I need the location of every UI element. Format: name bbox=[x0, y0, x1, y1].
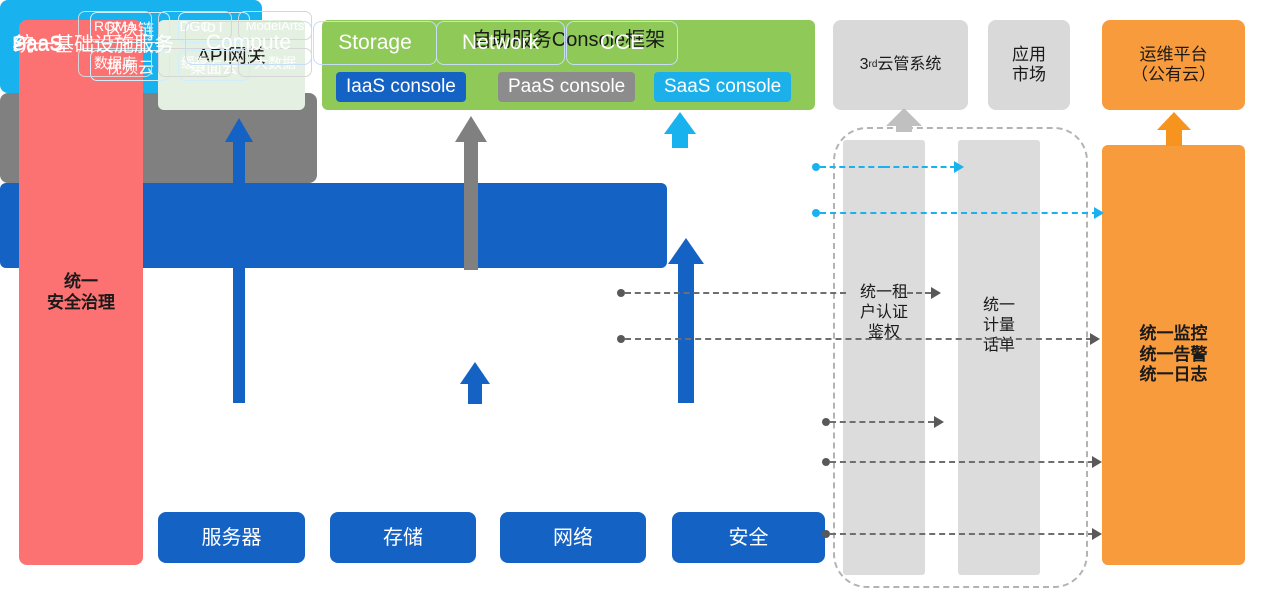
third-party-suffix: 云管系统 bbox=[877, 55, 941, 74]
third-party-cloud-mgmt-box: 3rd云管系统 bbox=[833, 20, 968, 110]
shared-service-column-auth bbox=[843, 140, 925, 575]
connector-arrow-saas-ops bbox=[1094, 207, 1104, 219]
third-party-superscript: rd bbox=[868, 59, 877, 71]
connector-line-infra-ops bbox=[830, 461, 1094, 463]
connector-arrow-paas-auth bbox=[931, 287, 941, 299]
connector-dot-saas-auth bbox=[812, 163, 820, 171]
ops-platform-box: 运维平台 （公有云） bbox=[1102, 20, 1245, 110]
arrow-infra-to-api-shaft bbox=[233, 140, 245, 403]
infra-chip-compute[interactable]: Compute bbox=[185, 21, 312, 65]
arrow-paas-to-console-shaft bbox=[464, 140, 478, 270]
connector-dot-security-ops bbox=[822, 530, 830, 538]
arrow-infra-to-paas-icon bbox=[460, 362, 490, 384]
arrow-infra-to-saas-shaft bbox=[678, 262, 694, 403]
connector-dot-paas-auth bbox=[617, 289, 625, 297]
resource-box-server[interactable]: 服务器 bbox=[158, 512, 305, 563]
resource-box-security[interactable]: 安全 bbox=[672, 512, 825, 563]
arrow-ops-column-to-platform-icon bbox=[1157, 112, 1191, 130]
connector-line-saas-auth-2 bbox=[884, 166, 956, 168]
resource-box-storage[interactable]: 存储 bbox=[330, 512, 476, 563]
paas-console-pill[interactable]: PaaS console bbox=[498, 72, 635, 102]
app-market-box: 应用 市场 bbox=[988, 20, 1070, 110]
infra-chip-cce[interactable]: CCE bbox=[566, 21, 678, 65]
infra-chip-storage[interactable]: Storage bbox=[313, 21, 437, 65]
security-governance-column: 统一 安全治理 bbox=[19, 20, 143, 565]
architecture-diagram-canvas: 统一 安全治理 API网关 自助服务Console框架 IaaS console… bbox=[0, 0, 1265, 605]
connector-line-paas-ops bbox=[625, 338, 1092, 340]
shared-service-column-billing bbox=[958, 140, 1040, 575]
infrastructure-layer-label: 统一基础设施服务 bbox=[14, 28, 174, 57]
iaas-console-pill[interactable]: IaaS console bbox=[336, 72, 466, 102]
connector-line-infra-auth bbox=[830, 421, 934, 423]
connector-dot-saas-ops bbox=[812, 209, 820, 217]
arrow-saas-to-console-icon bbox=[664, 112, 696, 134]
arrow-infra-to-api-icon bbox=[225, 118, 253, 142]
connector-line-saas-auth bbox=[820, 166, 884, 168]
third-party-prefix: 3 bbox=[860, 55, 869, 74]
saas-console-pill[interactable]: SaaS console bbox=[654, 72, 791, 102]
connector-arrow-paas-ops bbox=[1090, 333, 1100, 345]
connector-arrow-infra-ops bbox=[1092, 456, 1102, 468]
ops-monitoring-column: 统一监控 统一告警 统一日志 bbox=[1102, 145, 1245, 565]
connector-dot-infra-auth bbox=[822, 418, 830, 426]
resource-box-network[interactable]: 网络 bbox=[500, 512, 646, 563]
connector-arrow-security-ops bbox=[1092, 528, 1102, 540]
connector-line-auth-billing bbox=[898, 292, 931, 294]
connector-line-saas-ops bbox=[820, 212, 1098, 214]
connector-dot-paas-ops bbox=[617, 335, 625, 343]
connector-dot-infra-ops bbox=[822, 458, 830, 466]
connector-arrow-infra-auth bbox=[934, 416, 944, 428]
shared-service-billing-label: 统一 计量 话单 bbox=[958, 296, 1040, 356]
connector-line-security-ops bbox=[830, 533, 1094, 535]
arrow-shared-to-thirdparty-icon bbox=[886, 108, 922, 126]
arrow-paas-to-console-icon bbox=[455, 116, 487, 142]
infra-chip-network[interactable]: Network bbox=[436, 21, 565, 65]
arrow-infra-to-saas-icon bbox=[668, 238, 704, 264]
connector-line-paas-auth bbox=[625, 292, 846, 294]
